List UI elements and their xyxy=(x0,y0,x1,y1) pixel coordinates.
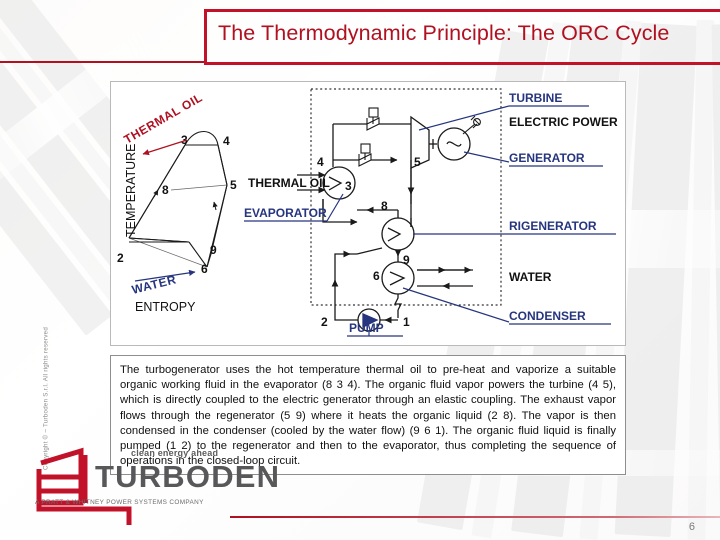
logo-subline: A PRATT & WHITNEY POWER SYSTEMS COMPANY xyxy=(35,499,204,506)
label-turbine: TURBINE xyxy=(509,91,562,105)
sch-point-3: 3 xyxy=(345,179,352,193)
sch-point-9: 9 xyxy=(403,253,410,267)
label-electric-power: ELECTRIC POWER xyxy=(509,115,618,129)
footer-rule xyxy=(230,516,720,518)
logo-wordmark: TURBODEN xyxy=(95,459,280,495)
orc-cycle-diagram: 3 4 5 8 9 6 2 TEMPERATURE ENTROPY THERMA… xyxy=(110,81,626,346)
label-condenser: CONDENSER xyxy=(509,309,586,323)
ts-point-5: 5 xyxy=(230,178,237,192)
ts-point-6: 6 xyxy=(201,262,208,276)
slide-canvas: The Thermodynamic Principle: The ORC Cyc… xyxy=(0,0,720,540)
label-rigenerator: RIGENERATOR xyxy=(509,219,597,233)
label-evaporator: EVAPORATOR xyxy=(244,206,327,220)
schematic-state-labels: 4 3 5 8 9 6 1 2 xyxy=(317,155,421,329)
label-water: WATER xyxy=(509,270,552,284)
ts-point-9: 9 xyxy=(210,243,217,257)
sch-point-2: 2 xyxy=(321,315,328,329)
logo-tagline: clean energy ahead xyxy=(131,448,218,458)
svg-text:THERMAL OIL: THERMAL OIL xyxy=(122,90,206,146)
schematic-callouts: TURBINE ELECTRIC POWER GENERATOR RIGENER… xyxy=(244,91,618,336)
ts-point-2: 2 xyxy=(117,251,124,265)
header-rule-left xyxy=(0,61,205,63)
label-pump: PUMP xyxy=(349,321,384,335)
ts-y-axis-label: TEMPERATURE xyxy=(124,143,138,237)
ts-point-4: 4 xyxy=(223,134,230,148)
sch-point-8: 8 xyxy=(381,199,388,213)
page-title: The Thermodynamic Principle: The ORC Cyc… xyxy=(218,21,718,46)
label-thermal-oil: THERMAL OIL xyxy=(248,176,330,190)
page-number: 6 xyxy=(689,521,695,533)
ts-x-axis-label: ENTROPY xyxy=(135,300,196,314)
cycle-boundary xyxy=(311,89,501,305)
label-generator: GENERATOR xyxy=(509,151,585,165)
sch-point-5: 5 xyxy=(414,155,421,169)
sch-point-1: 1 xyxy=(403,315,410,329)
sch-point-4: 4 xyxy=(317,155,324,169)
turboden-logo: clean energy ahead TURBODEN A PRATT & WH… xyxy=(33,447,233,525)
ts-water-annotation: WATER xyxy=(130,272,195,297)
ts-point-8: 8 xyxy=(162,183,169,197)
sch-point-6: 6 xyxy=(373,269,380,283)
